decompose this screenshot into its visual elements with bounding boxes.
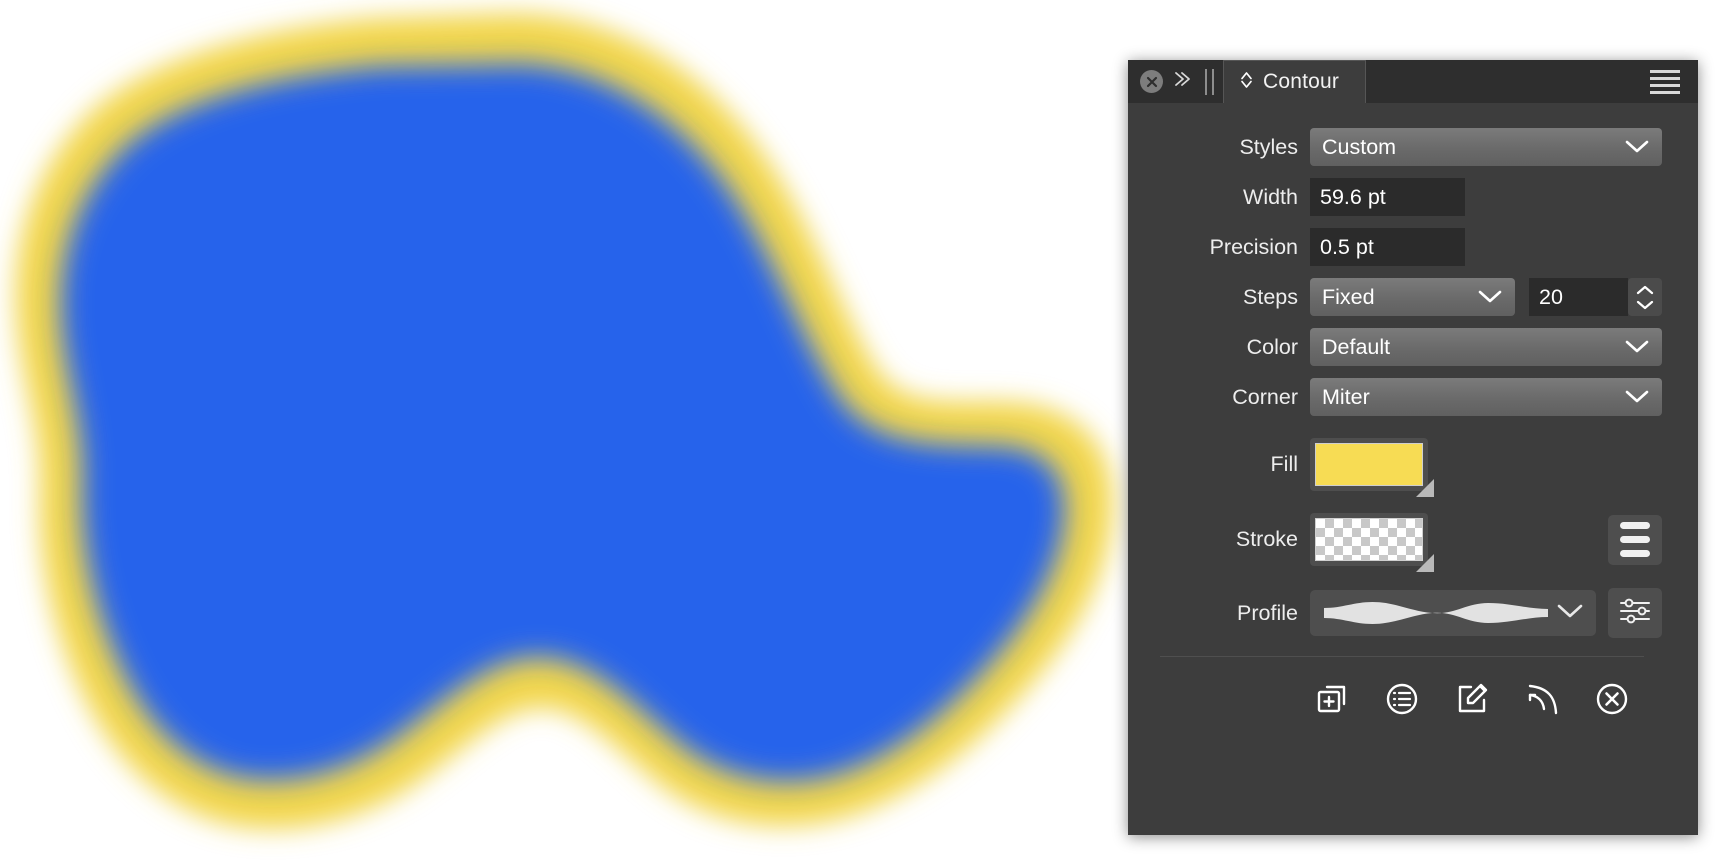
transparency-checker	[1316, 519, 1422, 560]
chevron-down-icon	[1635, 299, 1655, 310]
corner-label: Corner	[1142, 385, 1310, 410]
fill-swatch-button[interactable]	[1310, 438, 1428, 491]
corner-value: Miter	[1322, 385, 1616, 410]
steps-dropdown[interactable]: Fixed	[1310, 278, 1515, 316]
profile-label: Profile	[1142, 601, 1310, 626]
profile-dropdown[interactable]	[1310, 590, 1596, 636]
precision-label: Precision	[1142, 235, 1310, 260]
chevron-down-icon	[1624, 135, 1650, 160]
stroke-swatch-button[interactable]	[1310, 513, 1428, 566]
tabstrip-spacer	[1366, 60, 1640, 103]
precision-input[interactable]: 0.5 pt	[1310, 228, 1465, 266]
edit-pencil-icon[interactable]	[1454, 681, 1490, 717]
row-precision: Precision 0.5 pt	[1142, 228, 1662, 266]
tab-contour-label: Contour	[1263, 70, 1339, 94]
profile-options-button[interactable]	[1608, 588, 1662, 638]
stroke-label: Stroke	[1142, 527, 1310, 552]
row-width: Width 59.6 pt	[1142, 178, 1662, 216]
panel-menu-button[interactable]	[1640, 60, 1698, 103]
precision-value: 0.5 pt	[1320, 235, 1374, 260]
steps-label: Steps	[1142, 285, 1310, 310]
chevron-down-icon	[1477, 285, 1503, 310]
chevron-down-icon	[1624, 335, 1650, 360]
fill-label: Fill	[1142, 452, 1310, 477]
add-duplicate-icon[interactable]	[1314, 681, 1350, 717]
width-value: 59.6 pt	[1320, 185, 1386, 210]
swatch-corner-indicator	[1416, 479, 1434, 497]
artwork-blob[interactable]	[0, 0, 1140, 860]
styles-label: Styles	[1142, 135, 1310, 160]
profile-preview-icon	[1324, 595, 1548, 631]
fill-swatch	[1315, 443, 1423, 486]
chevron-up-icon	[1635, 285, 1655, 296]
stroke-swatch	[1315, 518, 1423, 561]
tab-contour[interactable]: Contour	[1223, 60, 1366, 103]
steps-stepper[interactable]	[1628, 278, 1662, 316]
steps-value: Fixed	[1322, 285, 1469, 310]
delete-close-circle-icon[interactable]	[1594, 681, 1630, 717]
color-dropdown[interactable]: Default	[1310, 328, 1662, 366]
chevron-down-icon	[1624, 385, 1650, 410]
stroke-options-button[interactable]	[1608, 515, 1662, 565]
double-chevron-right-icon[interactable]	[1172, 69, 1192, 95]
row-corner: Corner Miter	[1142, 378, 1662, 416]
row-fill: Fill	[1142, 438, 1662, 491]
steps-count-value: 20	[1539, 285, 1563, 310]
styles-value: Custom	[1322, 135, 1616, 160]
panel-toolbar	[1142, 657, 1662, 717]
width-input[interactable]: 59.6 pt	[1310, 178, 1465, 216]
row-styles: Styles Custom	[1142, 128, 1662, 166]
steps-count-input[interactable]: 20	[1529, 278, 1628, 316]
list-circle-icon[interactable]	[1384, 681, 1420, 717]
swatch-corner-indicator	[1416, 554, 1434, 572]
row-stroke: Stroke	[1142, 513, 1662, 566]
color-label: Color	[1142, 335, 1310, 360]
color-value: Default	[1322, 335, 1616, 360]
sort-updown-icon	[1239, 70, 1254, 95]
contour-panel: Contour Styles Custom Width 59.6 pt	[1128, 60, 1698, 835]
panel-body: Styles Custom Width 59.6 pt Precision 0.…	[1128, 103, 1698, 717]
close-circle-icon[interactable]	[1140, 70, 1163, 93]
profile-sliders-icon	[1618, 596, 1652, 631]
tabstrip-controls	[1128, 60, 1218, 103]
panel-tabstrip: Contour	[1128, 60, 1698, 103]
corner-dropdown[interactable]: Miter	[1310, 378, 1662, 416]
hamburger-menu-icon	[1650, 70, 1680, 94]
row-color: Color Default	[1142, 328, 1662, 366]
chevron-down-icon	[1556, 602, 1584, 624]
row-profile: Profile	[1142, 588, 1662, 638]
styles-dropdown[interactable]: Custom	[1310, 128, 1662, 166]
row-steps: Steps Fixed 20	[1142, 278, 1662, 316]
curve-arc-icon[interactable]	[1524, 681, 1560, 717]
drag-grip-icon[interactable]	[1205, 69, 1214, 95]
width-label: Width	[1142, 185, 1310, 210]
